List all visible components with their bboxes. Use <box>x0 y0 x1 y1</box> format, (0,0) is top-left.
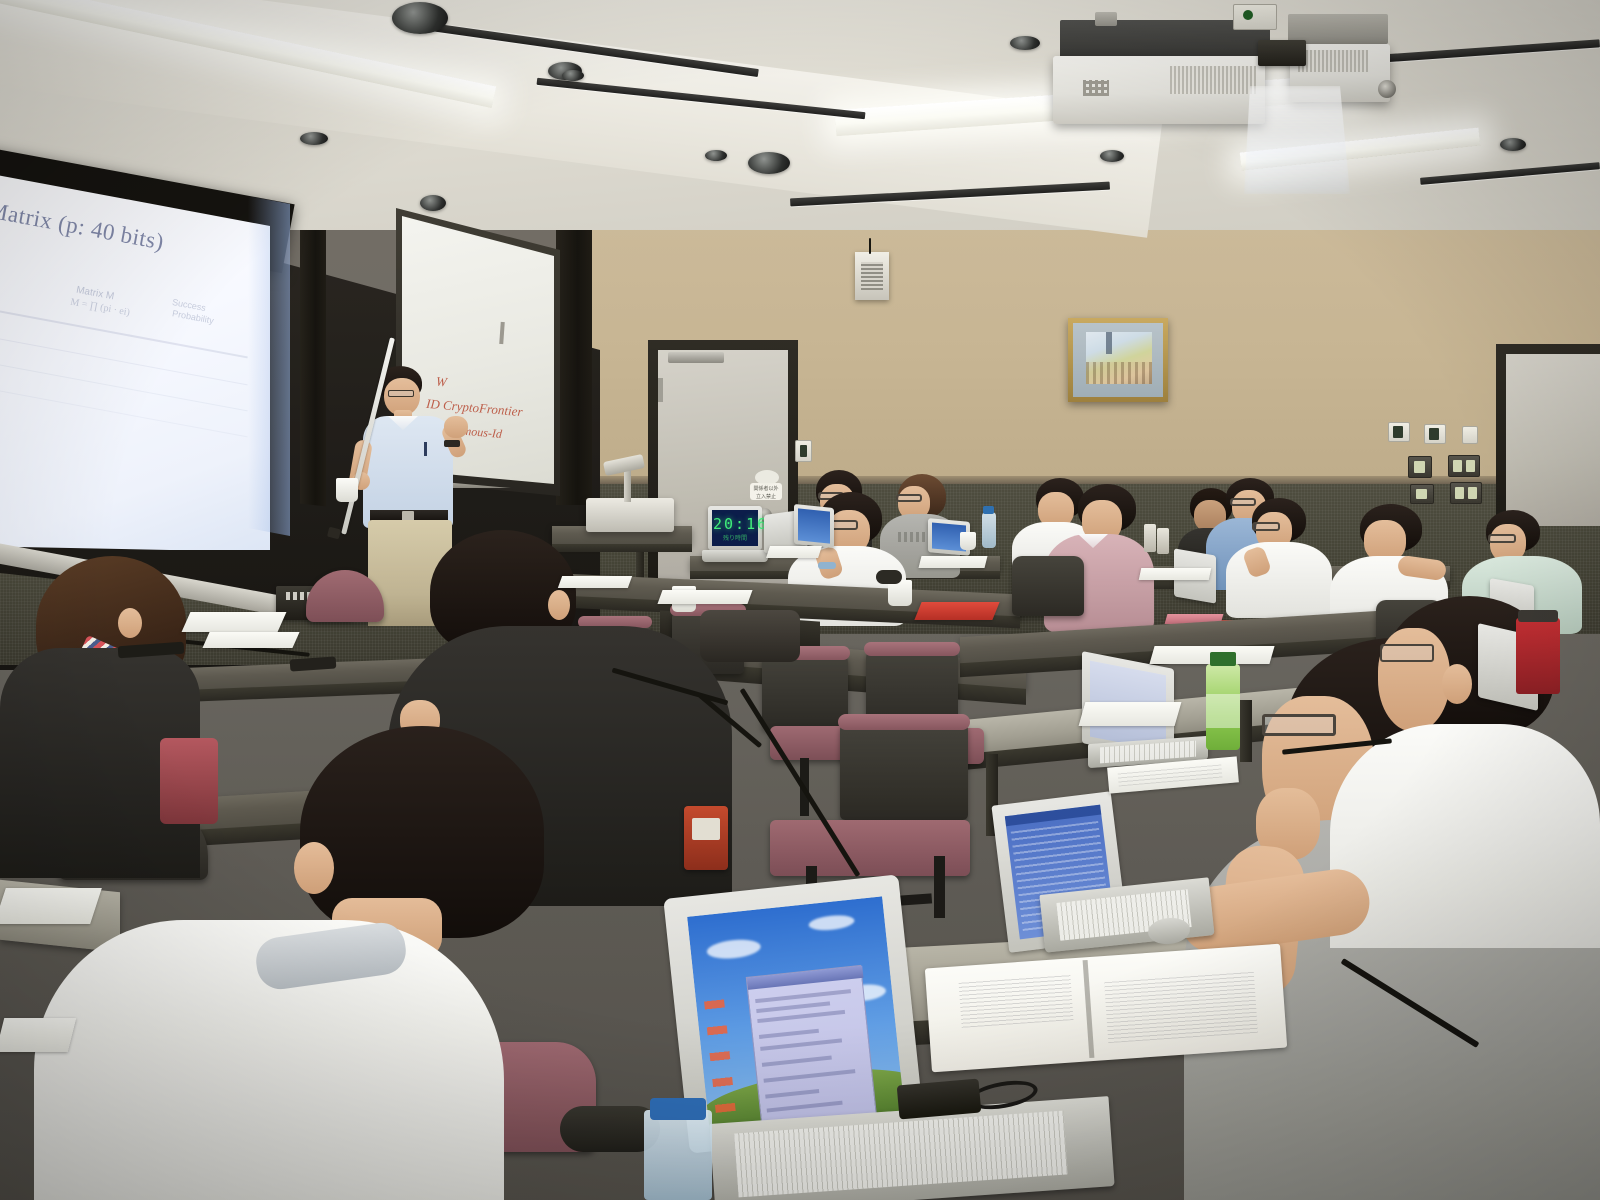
bottle-blue-back-cap <box>983 506 994 514</box>
ceiling-dome-speaker-1 <box>392 2 448 34</box>
front-left-man-ear <box>548 590 570 620</box>
chair-mid-5[interactable] <box>840 720 968 820</box>
wall-outlet-face-3 <box>1466 460 1475 472</box>
ceiling-smoke-detector <box>748 152 790 174</box>
can-back-1 <box>1144 524 1156 552</box>
ceiling-downlight-6 <box>1500 138 1526 151</box>
paper-front-left-3 <box>0 888 102 924</box>
table-right-leg-2 <box>1240 700 1252 762</box>
bag-under-table <box>700 610 800 662</box>
door-sign: 関係者以外立入禁止 <box>750 483 782 500</box>
front-right-white-torso <box>1330 724 1600 948</box>
cup-back-1 <box>960 532 976 550</box>
projector-right-grill <box>1298 50 1368 72</box>
projection-screen-edge <box>248 196 290 536</box>
chair-mid-5-leg-2 <box>934 856 945 918</box>
green-tea-bottle-label <box>1206 694 1240 728</box>
presenter-left-hand <box>444 416 468 438</box>
paper-front-left-4 <box>0 1018 76 1052</box>
wall-switch-rocker-1[interactable] <box>1393 426 1403 438</box>
wall-switch-plate-3[interactable] <box>1462 426 1478 444</box>
paper-back-2 <box>919 556 988 568</box>
attendee-hoodie-woman-glasses <box>896 494 922 502</box>
timer-laptop-base[interactable] <box>702 550 768 562</box>
water-bottle-front <box>644 1110 712 1200</box>
attendee-right-woman-torso <box>1226 542 1332 618</box>
wall-speaker-grill <box>861 262 883 290</box>
wall-outlet-face-4 <box>1416 489 1427 499</box>
presenter-pen <box>424 442 427 456</box>
attendee-white-shirt-wristband <box>818 562 836 569</box>
booklet-text-left <box>959 974 1074 1028</box>
projector-right-lens <box>1378 80 1396 98</box>
device-black-front[interactable] <box>897 1078 982 1119</box>
whiteboard-text-1: W <box>435 374 447 391</box>
front-bottom-man-ear <box>294 842 334 894</box>
ceiling-downlight-5 <box>1100 150 1124 162</box>
picture-artwork-spire <box>1106 332 1112 354</box>
xp-laptop-screen[interactable] <box>687 896 905 1133</box>
door-sign-round <box>755 470 779 485</box>
floor-power-box-face <box>692 818 720 840</box>
front-right-white-trousers <box>1334 1024 1600 1200</box>
paper-back-1 <box>766 546 822 558</box>
ceiling-downlight-2 <box>562 70 584 81</box>
paper-mid-table <box>657 590 752 604</box>
presenter-wristwatch <box>444 440 460 447</box>
green-tea-bottle-cap <box>1210 652 1236 666</box>
chair-right-far[interactable] <box>1012 556 1084 616</box>
front-left-woman-ear <box>118 608 142 638</box>
handout-right-upper <box>1079 702 1182 726</box>
entry-door-far-right[interactable] <box>1506 354 1600 526</box>
xp-dialog-row-7 <box>763 1069 855 1083</box>
front-right-white-ear <box>1442 664 1472 704</box>
attendee-green-shirt-glasses <box>1488 534 1516 543</box>
xp-dialog-row-4 <box>759 1029 819 1039</box>
attendee-blue-shirt-glasses <box>1230 498 1256 506</box>
can-back-2 <box>1157 528 1169 554</box>
ceiling-downlight-4 <box>1010 36 1040 50</box>
xp-dialog-row-1 <box>755 989 851 1003</box>
ceiling-sensor-led <box>1243 10 1253 20</box>
timer-display: 20:16 <box>713 515 757 533</box>
overhead-projector <box>586 498 674 532</box>
projector-junction-box <box>1258 40 1306 66</box>
wall-outlet-face-6 <box>1468 487 1477 499</box>
wall-outlet-face-2 <box>1453 460 1462 472</box>
door-hinge <box>658 378 663 402</box>
wall-speaker-cable <box>869 238 871 254</box>
ceiling-downlight-3 <box>705 150 727 161</box>
water-bottle-front-cap <box>650 1098 706 1120</box>
xp-dialog-row-8 <box>765 1089 819 1099</box>
paper-front-left-2 <box>202 632 299 648</box>
wall-switch-rocker-2[interactable] <box>1429 428 1439 440</box>
chair-mid-4-rim <box>864 642 960 656</box>
chair-mid-3[interactable] <box>762 652 848 730</box>
projection-screen: ...ple of Matrix (p: 40 bits) al size ∏p… <box>0 170 270 550</box>
ceiling-sensor-plate <box>1233 4 1277 30</box>
paper-back-3 <box>1139 568 1212 580</box>
timer-sub-label: 残り時間 <box>713 533 757 542</box>
xp-dialog-row-3 <box>757 1010 845 1023</box>
picture-artwork-detail <box>1086 362 1152 384</box>
xp-dialog-window <box>746 965 877 1126</box>
red-thermos <box>1516 618 1560 694</box>
laptop-back-3-screen <box>798 508 830 543</box>
mouse-mid[interactable] <box>876 570 902 584</box>
front-right-gray-glasses <box>1262 714 1336 736</box>
front-right-white-glasses <box>1380 644 1434 662</box>
xp-dialog-row-2 <box>756 1001 830 1013</box>
xp-dialog-row-9 <box>767 1101 843 1113</box>
attendee-right-woman-glasses <box>1252 522 1280 531</box>
ceiling-dome-camera <box>420 195 446 211</box>
lecture-room-photo: ...ple of Matrix (p: 40 bits) al size ∏p… <box>0 0 1600 1200</box>
folder-red-mid <box>914 602 999 620</box>
booklet-text-right <box>1104 971 1258 1043</box>
presenter-glasses <box>388 390 414 397</box>
door-closer-arm <box>668 352 724 363</box>
wall-column <box>556 205 592 505</box>
red-thermos-lid <box>1518 610 1558 622</box>
xp-dialog-row-6 <box>762 1056 832 1067</box>
wall-outlet-face-5 <box>1455 487 1464 499</box>
wall-outlet-face-1 <box>1414 461 1425 473</box>
wall-light-switch-left-rocker[interactable] <box>800 445 807 457</box>
bag-front-left <box>160 738 218 824</box>
projector-beam-glow <box>1244 86 1350 194</box>
chair-mid-5-rim <box>838 714 970 730</box>
presenter-cup <box>336 478 358 502</box>
projector-left-buttons <box>1083 80 1109 96</box>
xp-dialog-row-5 <box>760 1038 842 1051</box>
paper-mid-table-2 <box>558 576 632 588</box>
paper-front-left-1 <box>182 612 287 632</box>
projector-left-arm <box>1095 12 1117 26</box>
ceiling-downlight-1 <box>300 132 328 145</box>
projector-left-grill <box>1170 66 1256 94</box>
bottle-blue-back <box>982 512 996 548</box>
podium-table-edge <box>552 544 692 552</box>
